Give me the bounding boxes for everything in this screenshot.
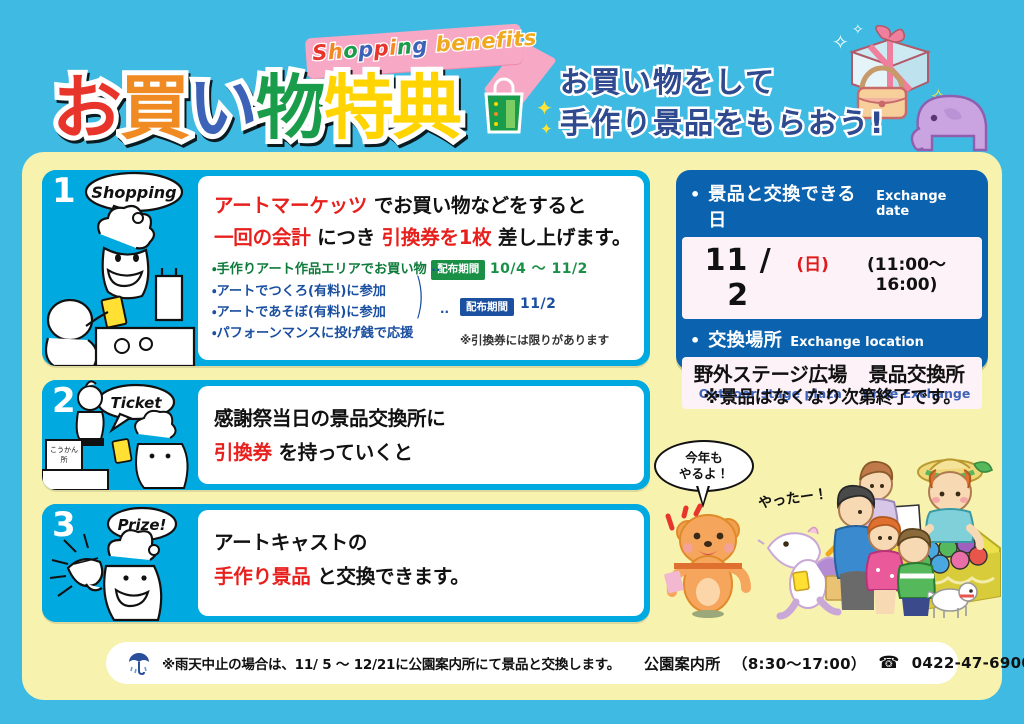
step1-lead: アートマーケッツ でお買い物などをすると 一回の会計 につき 引換券を1枚 差し… (214, 190, 634, 253)
prize-booth-illustration (834, 444, 1002, 620)
poster-root: Shopping benefits お買い物特典 お買い物をして 手作り景品をも… (0, 0, 1024, 724)
step2-line2-rest: を持っていくと (272, 441, 413, 464)
exchange-date-heading-en: Exchange date (876, 189, 980, 219)
exchange-date-value: 11 / 2 (690, 243, 786, 313)
bullet-text: ・手作りアート作品エリアでお買い物 (212, 262, 427, 277)
mascot-bubble-line1: 今年も (679, 450, 729, 467)
exchange-date-value-panel: 11 / 2 (日) (11:00～16:00) (682, 237, 982, 319)
location-secondary-jp: 景品交換所 (863, 363, 970, 386)
bullet-dot: • (690, 185, 700, 204)
distribution-date-blue: 11/2 (520, 296, 556, 312)
ribbon-letter: s (523, 26, 538, 51)
svg-text:Shopping: Shopping (91, 183, 176, 202)
sparkle-icon: ✦ (536, 96, 553, 120)
step3-highlight: 手作り景品 (214, 565, 311, 588)
shopping-bag-icon (480, 78, 528, 134)
exchange-info-box: • 景品と交換できる日 Exchange date 11 / 2 (日) (11… (676, 170, 988, 370)
exchange-location-heading: • 交換場所 Exchange location (682, 322, 982, 357)
step-number: 1 (52, 174, 76, 208)
step-number: 2 (52, 384, 76, 418)
leader-dots: .. (440, 302, 449, 316)
title-part: い (188, 52, 256, 153)
title-part: 特典 (324, 52, 460, 153)
step3-lead: アートキャストの 手作り景品 と交換できます。 (214, 526, 634, 593)
step3-body: アートキャストの 手作り景品 と交換できます。 (198, 510, 644, 616)
umbrella-icon (128, 651, 150, 675)
step1-lead-highlight: アートマーケッツ (214, 194, 367, 217)
exchange-location-heading-en: Exchange location (790, 335, 924, 350)
telephone-icon: ☎ (878, 653, 899, 673)
elephant-icon (898, 88, 1000, 154)
poster-header: Shopping benefits お買い物特典 お買い物をして 手作り景品をも… (0, 0, 1024, 150)
ticket-limit-note: ※引換券には限りがあります (460, 332, 609, 348)
step3-line1: アートキャストの (214, 526, 634, 560)
leader-dots: .. (431, 258, 440, 277)
exchange-date-dow: (日) (796, 250, 829, 275)
step1-lead2-b: につき (311, 226, 382, 249)
svg-text:こうかん: こうかん (50, 446, 78, 454)
step1-lead2-a: 一回の会計 (214, 226, 311, 249)
step-card-2: 2 Ticket こうかん 所 (42, 380, 650, 490)
exchange-date-heading-jp: 景品と交換できる日 (708, 180, 868, 232)
step3-line2-rest: と交換できます。 (311, 565, 470, 588)
title-part: 買 (120, 52, 188, 153)
contact-hours: （8:30～17:00） (733, 653, 867, 674)
contact-phone-number[interactable]: 0422-47-6900 (912, 654, 1024, 672)
step2-line1: 感謝祭当日の景品交換所に (214, 402, 634, 436)
step-card-3: 3 Prize! (42, 504, 650, 622)
title-part: 物 (256, 52, 324, 153)
bear-mascot-icon (666, 510, 752, 616)
step-number: 3 (52, 508, 76, 542)
step2-body: 感謝祭当日の景品交換所に 引換券 を持っていくと (198, 386, 644, 484)
tagline: お買い物をして 手作り景品をもらおう! (560, 62, 885, 144)
step1-lead2-c: 引換券を1枚 (382, 226, 492, 249)
step2-highlight: 引換券 (214, 441, 272, 464)
distribution-badge-blue: 配布期間 (460, 298, 514, 316)
svg-text:所: 所 (61, 456, 68, 464)
rain-cancellation-note: ※雨天中止の場合は、11/ 5 ～ 12/21に公園案内所にて景品と交換します。 (162, 653, 620, 673)
location-primary-jp: 野外ステージ広場 (694, 363, 847, 386)
svg-text:Ticket: Ticket (110, 394, 162, 412)
mascot-speech-bubble: 今年も やるよ！ (654, 440, 754, 492)
mascot-bubble-line2: やるよ！ (679, 466, 729, 483)
page-title: お買い物特典 (52, 52, 460, 153)
bullet-dot: • (690, 331, 700, 350)
step2-lead: 感謝祭当日の景品交換所に 引換券 を持っていくと (214, 402, 634, 469)
contact-label: 公園案内所 (644, 653, 721, 674)
prize-availability-note: ※景品はなくなり次第終了です。 (676, 384, 988, 409)
step1-lead2-d: 差し上げます。 (491, 226, 631, 249)
step1-lead-rest: でお買い物などをすると (367, 194, 586, 217)
exchange-date-time: (11:00～16:00) (839, 250, 974, 295)
distribution-dates-green: 10/4 ～ 11/2 (490, 261, 588, 277)
mascot-exclamation: やったー！ (757, 483, 829, 513)
grouping-brace: ) (414, 272, 424, 320)
footer-bar: ※雨天中止の場合は、11/ 5 ～ 12/21に公園案内所にて景品と交換します。… (106, 642, 958, 684)
exchange-date-heading: • 景品と交換できる日 Exchange date (682, 176, 982, 237)
title-part: お (52, 52, 120, 153)
sparkle-icon: ✦ (540, 120, 553, 138)
content-panel: 1 Shopping (22, 152, 1002, 700)
step1-body: アートマーケッツ でお買い物などをすると 一回の会計 につき 引換券を1枚 差し… (198, 176, 644, 360)
exchange-location-heading-jp: 交換場所 (708, 326, 782, 352)
step-card-1: 1 Shopping (42, 170, 650, 366)
